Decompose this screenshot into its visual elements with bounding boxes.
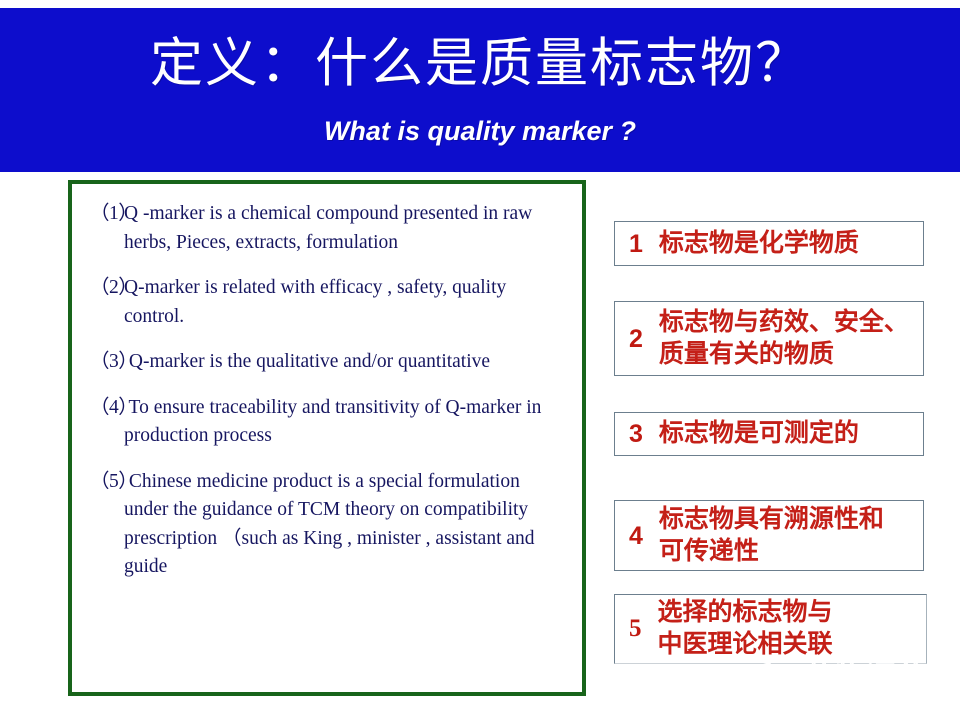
watermark-label: 药物评价研究 [804, 662, 960, 696]
callout-text: 选择的标志物与 中医理论相关联 [658, 597, 921, 661]
definition-item-text: Q -marker is a chemical compound present… [124, 203, 532, 253]
page-title: 定义：什么是质量标志物？ [0, 34, 960, 94]
definition-item-number: （4） [90, 394, 124, 423]
definition-item-text: To ensure traceability and transitivity … [124, 397, 541, 447]
definition-item-text: Q-marker is related with efficacy , safe… [124, 277, 506, 327]
definition-item: （4） To ensure traceability and transitiv… [90, 394, 568, 451]
wechat-logo-icon [754, 660, 798, 699]
page-subtitle: What is quality marker ? [0, 114, 960, 148]
definition-list-box: （1）Q -marker is a chemical compound pres… [68, 180, 586, 696]
callout-box-4: 4 标志物具有溯源性和 可传递性 [614, 500, 924, 571]
callout-text: 标志物与药效、安全、 质量有关的物质 [659, 307, 917, 371]
definition-item-number: （3） [90, 348, 124, 377]
callout-number: 4 [629, 522, 643, 550]
callout-text: 标志物是化学物质 [659, 228, 917, 260]
definition-item: （5） Chinese medicine product is a specia… [90, 468, 568, 582]
callout-box-3: 3 标志物是可测定的 [614, 412, 924, 456]
header-banner: 定义：什么是质量标志物？ What is quality marker ? [0, 8, 960, 172]
callout-number: 1 [629, 230, 643, 258]
callout-box-5: 5 选择的标志物与 中医理论相关联 [614, 594, 927, 664]
definition-item-text: Chinese medicine product is a special fo… [124, 471, 535, 578]
callout-number: 3 [629, 420, 643, 448]
definition-item-number: （1） [90, 200, 124, 229]
slide-canvas: 定义：什么是质量标志物？ What is quality marker ? （1… [0, 0, 960, 720]
definition-item: （2）Q-marker is related with efficacy , s… [90, 274, 568, 331]
callout-number: 2 [629, 325, 643, 353]
definition-item-text: Q-marker is the qualitative and/or quant… [124, 351, 490, 372]
callout-number: 5 [629, 615, 642, 643]
definition-item: （1）Q -marker is a chemical compound pres… [90, 200, 568, 257]
definition-item: （3） Q-marker is the qualitative and/or q… [90, 348, 568, 377]
definition-item-number: （5） [90, 468, 124, 497]
watermark-rule [726, 673, 754, 675]
callout-box-1: 1 标志物是化学物质 [614, 221, 924, 266]
definition-item-number: （2） [90, 274, 124, 303]
callout-box-2: 2 标志物与药效、安全、 质量有关的物质 [614, 301, 924, 376]
callout-text: 标志物具有溯源性和 可传递性 [659, 504, 917, 568]
callout-text: 标志物是可测定的 [659, 418, 917, 450]
